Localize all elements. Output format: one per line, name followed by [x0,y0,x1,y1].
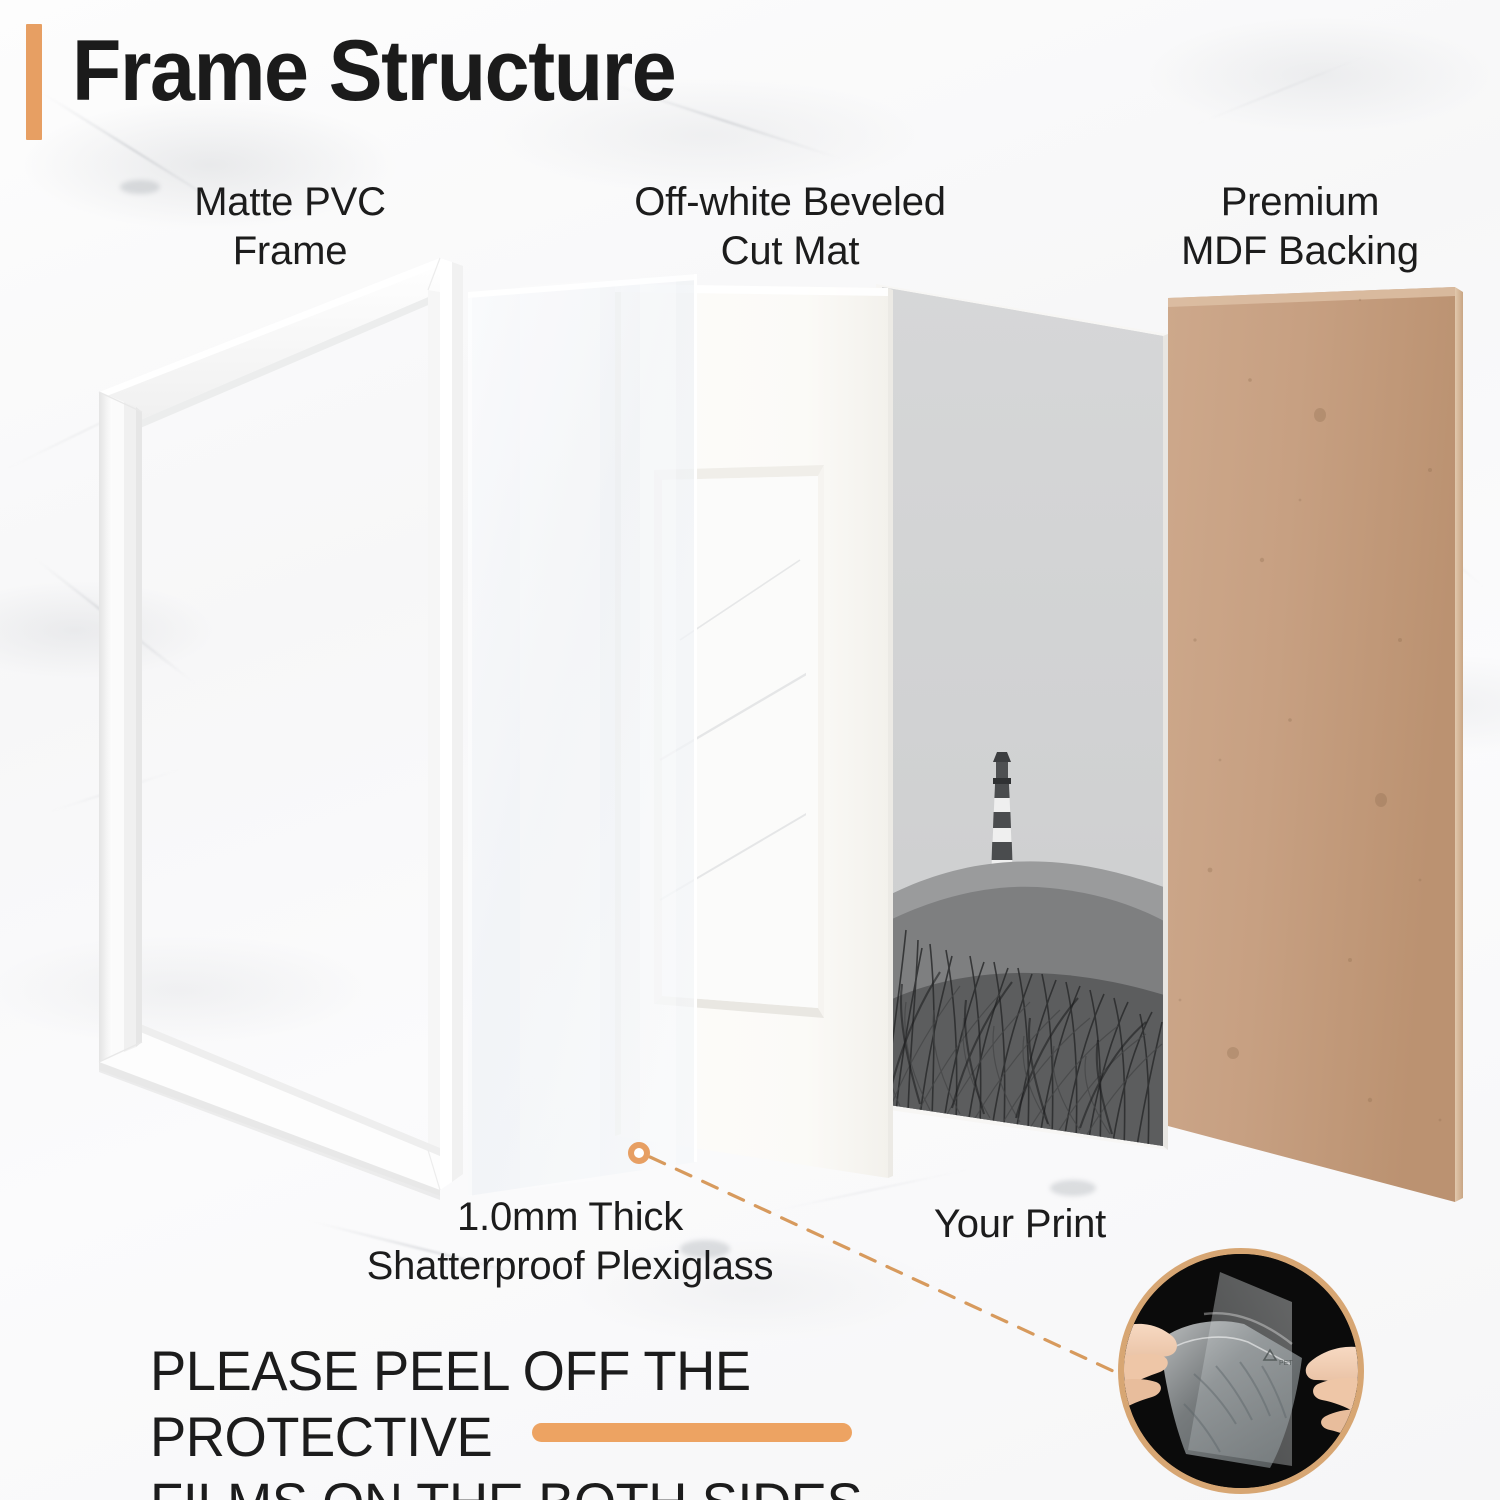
peel-film-photo-inset: PET [1118,1248,1364,1494]
label-plexiglass: 1.0mm Thick Shatterproof Plexiglass [250,1193,890,1291]
peel-off-notice: PLEASE PEEL OFF THE PROTECTIVEFILMS ON T… [150,1338,1042,1500]
infographic-canvas: Frame Structure [0,0,1500,1500]
layer-plexiglass [468,274,697,1196]
label-matte-pvc-frame: Matte PVC Frame [120,178,460,276]
notice-line-1: PLEASE PEEL OFF THE PROTECTIVE [150,1339,751,1468]
label-mdf-backing: Premium MDF Backing [1100,178,1500,276]
layer-print [870,280,1180,1170]
notice-highlight-bar [532,1423,852,1442]
layer-mdf-backing [1168,287,1463,1202]
layer-pvc-frame [99,258,463,1200]
label-your-print: Your Print [840,1200,1200,1249]
print-photo [870,280,1180,1170]
svg-text:PET: PET [1279,1360,1293,1367]
notice-line-2: FILMS ON THE BOTH SIDES [150,1471,862,1500]
label-cut-mat: Off-white Beveled Cut Mat [560,178,1020,276]
peel-film-illustration: PET [1124,1254,1358,1488]
connector-dot-marker [628,1142,650,1164]
